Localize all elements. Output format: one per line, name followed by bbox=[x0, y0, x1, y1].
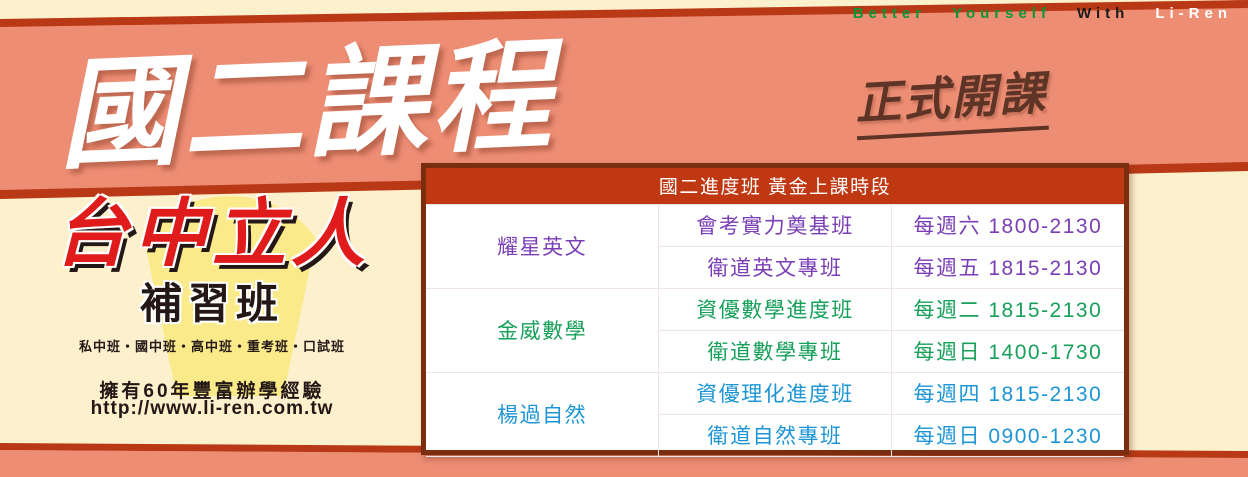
schedule-title: 國二進度班 黃金上課時段 bbox=[426, 168, 1124, 204]
course-time-cell: 每週四 1815-2130 bbox=[891, 372, 1124, 414]
course-time-cell: 每週日 1400-1730 bbox=[891, 330, 1124, 372]
course-name-cell: 衛道自然專班 bbox=[659, 414, 892, 456]
logo-type-label: 補習班 bbox=[32, 270, 392, 331]
promo-poster: Better Yourself With Li-Ren 國二課程 正式開課 台中… bbox=[0, 0, 1248, 477]
logo-class-tags: 私中班・國中班・高中班・重考班・口試班 bbox=[32, 336, 392, 355]
course-name-cell: 會考實力奠基班 bbox=[659, 204, 892, 246]
table-row: 楊過自然資優理化進度班每週四 1815-2130 bbox=[426, 372, 1124, 414]
tagline-word-yourself: Yourself bbox=[952, 5, 1051, 22]
table-row: 耀星英文會考實力奠基班每週六 1800-2130 bbox=[426, 204, 1124, 246]
schedule-table-body: 耀星英文會考實力奠基班每週六 1800-2130衛道英文專班每週五 1815-2… bbox=[426, 204, 1124, 456]
subject-cell: 楊過自然 bbox=[426, 372, 659, 456]
course-time-cell: 每週五 1815-2130 bbox=[891, 246, 1124, 288]
website-url[interactable]: http://www.li-ren.com.tw bbox=[32, 398, 392, 420]
schedule-table: 國二進度班 黃金上課時段 耀星英文會考實力奠基班每週六 1800-2130衛道英… bbox=[426, 168, 1124, 457]
table-row: 金威數學資優數學進度班每週二 1815-2130 bbox=[426, 288, 1124, 330]
course-time-cell: 每週日 0900-1230 bbox=[891, 414, 1124, 456]
tagline-word-liren: Li-Ren bbox=[1155, 5, 1232, 22]
schedule-table-container: 國二進度班 黃金上課時段 耀星英文會考實力奠基班每週六 1800-2130衛道英… bbox=[421, 163, 1129, 455]
tagline-word-better: Better bbox=[853, 5, 926, 22]
course-name-cell: 衛道英文專班 bbox=[659, 246, 892, 288]
course-name-cell: 資優數學進度班 bbox=[659, 288, 892, 330]
subject-cell: 金威數學 bbox=[426, 288, 659, 372]
course-time-cell: 每週六 1800-2130 bbox=[891, 204, 1124, 246]
subject-cell: 耀星英文 bbox=[426, 204, 659, 288]
course-name-cell: 衛道數學專班 bbox=[659, 330, 892, 372]
school-logo: 台中立人 補習班 私中班・國中班・高中班・重考班・口試班 bbox=[32, 196, 392, 355]
headline-sub: 正式開課 bbox=[853, 57, 1049, 141]
course-name-cell: 資優理化進度班 bbox=[659, 372, 892, 414]
logo-brand-name: 台中立人 bbox=[32, 196, 392, 274]
course-time-cell: 每週二 1815-2130 bbox=[891, 288, 1124, 330]
table-header-row: 國二進度班 黃金上課時段 bbox=[426, 168, 1124, 204]
tagline-word-with: With bbox=[1077, 5, 1129, 22]
